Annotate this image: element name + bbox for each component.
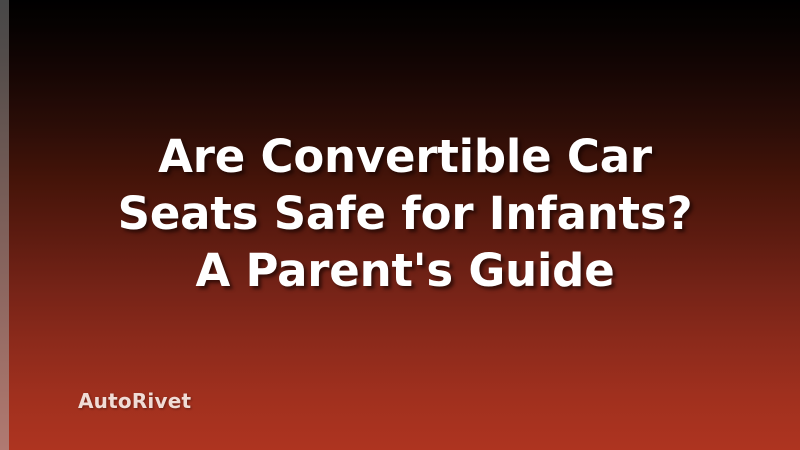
brand-wordmark: AutoRivet <box>78 389 191 413</box>
card-content: Are Convertible Car Seats Safe for Infan… <box>0 0 800 450</box>
page-title-line-3: A Parent's Guide <box>0 242 800 299</box>
page-title-line-2: Seats Safe for Infants? <box>0 185 800 242</box>
article-hero-card: Are Convertible Car Seats Safe for Infan… <box>0 0 800 450</box>
page-title-line-1: Are Convertible Car <box>0 128 800 185</box>
page-title: Are Convertible Car Seats Safe for Infan… <box>0 128 800 299</box>
